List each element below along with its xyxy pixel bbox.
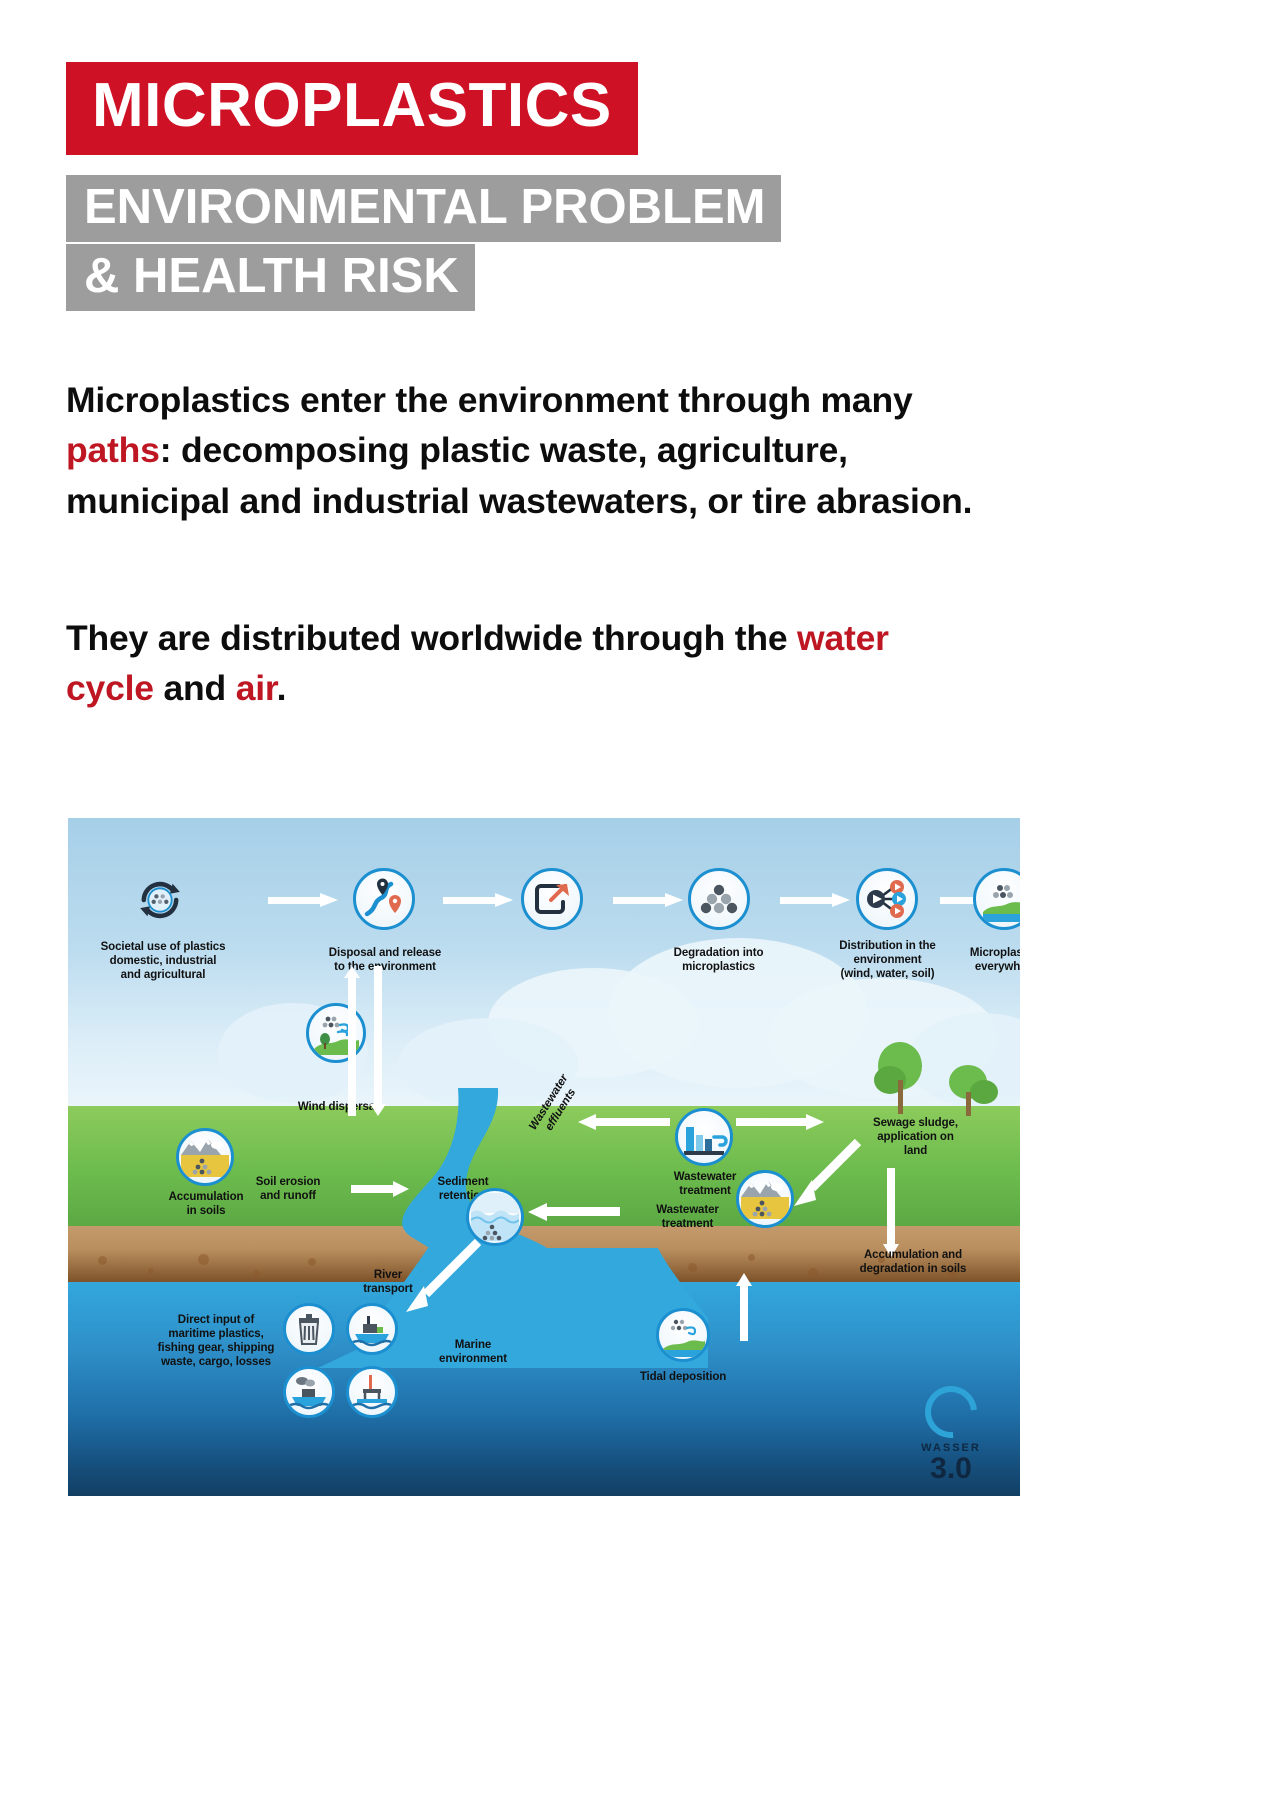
label-accumulation-degradation-soils: Accumulation and degradation in soils bbox=[813, 1248, 1013, 1276]
paragraph-1: Microplastics enter the environment thro… bbox=[66, 375, 976, 526]
export-arrow-icon[interactable] bbox=[521, 868, 583, 930]
label-tidal-deposition: Tidal deposition bbox=[613, 1370, 753, 1384]
map-pin-river-icon[interactable] bbox=[353, 868, 415, 930]
subtitle-line-1: ENVIRONMENTAL PROBLEM bbox=[66, 175, 781, 242]
label-wind-dispersal: Wind dispersal bbox=[268, 1100, 408, 1114]
flow-step-label-degradation: Degradation into microplastics bbox=[636, 946, 801, 974]
distribution-network-icon[interactable] bbox=[856, 868, 918, 930]
paragraph-2-part-2: and bbox=[154, 668, 236, 708]
paragraph-1-part-1: Microplastics enter the environment thro… bbox=[66, 380, 913, 420]
flow-step-label-everywhere: Microplastics everywhere bbox=[936, 946, 1020, 974]
arrow-erosion-icon bbox=[351, 1181, 411, 1195]
paragraph-1-part-2: : decomposing plastic waste, agriculture… bbox=[66, 430, 972, 520]
arrow-sludge-down-icon bbox=[883, 1168, 899, 1258]
arrow-up-icon bbox=[344, 966, 360, 1116]
paragraph-2-part-3: . bbox=[277, 668, 287, 708]
arrow-down-icon bbox=[370, 966, 386, 1116]
arrow-factory-to-sludge-icon bbox=[736, 1115, 826, 1129]
wastewater-treatment-factory-icon[interactable] bbox=[675, 1108, 733, 1166]
trees-icon bbox=[868, 1040, 1020, 1118]
label-wastewater-treatment-2: Wastewater treatment bbox=[630, 1203, 745, 1231]
flow-arrow-4-icon bbox=[780, 893, 852, 907]
page-title: MICROPLASTICS bbox=[66, 62, 638, 155]
particles-icon[interactable] bbox=[688, 868, 750, 930]
flow-arrow-1-icon bbox=[268, 893, 340, 907]
paragraph-1-highlight-paths: paths bbox=[66, 430, 160, 470]
wasser-logo: WASSER 3.0 bbox=[896, 1386, 1006, 1484]
arrow-treatment-to-river-icon bbox=[528, 1203, 620, 1219]
label-direct-input: Direct input of maritime plastics, fishi… bbox=[146, 1313, 286, 1369]
label-river-transport: River transport bbox=[333, 1268, 443, 1296]
arrow-factory-to-river-icon bbox=[578, 1115, 670, 1129]
accumulation-in-soils-icon[interactable] bbox=[176, 1128, 234, 1186]
oil-platform-icon[interactable] bbox=[346, 1366, 398, 1418]
flow-arrow-2-icon bbox=[443, 893, 515, 907]
microplastics-pathways-infographic: Societal use of plastics domestic, indus… bbox=[68, 818, 1020, 1496]
arrow-tidal-up-icon bbox=[736, 1273, 752, 1341]
recycle-microplastics-icon bbox=[130, 870, 190, 930]
paragraph-2: They are distributed worldwide through t… bbox=[66, 613, 976, 714]
waste-bin-icon[interactable] bbox=[283, 1303, 335, 1355]
label-sewage-sludge: Sewage sludge, application on land bbox=[838, 1116, 993, 1158]
paragraph-2-part-1: They are distributed worldwide through t… bbox=[66, 618, 797, 658]
poster-page: MICROPLASTICS ENVIRONMENTAL PROBLEM & HE… bbox=[0, 0, 1280, 1809]
subtitle-block: ENVIRONMENTAL PROBLEM & HEALTH RISK bbox=[66, 175, 966, 313]
label-soil-erosion: Soil erosion and runoff bbox=[228, 1175, 348, 1203]
fishing-boat-icon[interactable] bbox=[283, 1366, 335, 1418]
flow-step-label-societal-use: Societal use of plastics domestic, indus… bbox=[78, 940, 248, 982]
tidal-deposition-icon[interactable] bbox=[656, 1308, 710, 1362]
wasser-ring-icon bbox=[914, 1375, 987, 1448]
subtitle-line-2: & HEALTH RISK bbox=[66, 244, 475, 311]
paragraph-2-highlight-air: air bbox=[236, 668, 277, 708]
label-marine-environment: Marine environment bbox=[413, 1338, 533, 1366]
wasser-version: 3.0 bbox=[896, 1454, 1006, 1484]
flow-arrow-3-icon bbox=[613, 893, 685, 907]
cargo-ship-icon[interactable] bbox=[346, 1303, 398, 1355]
